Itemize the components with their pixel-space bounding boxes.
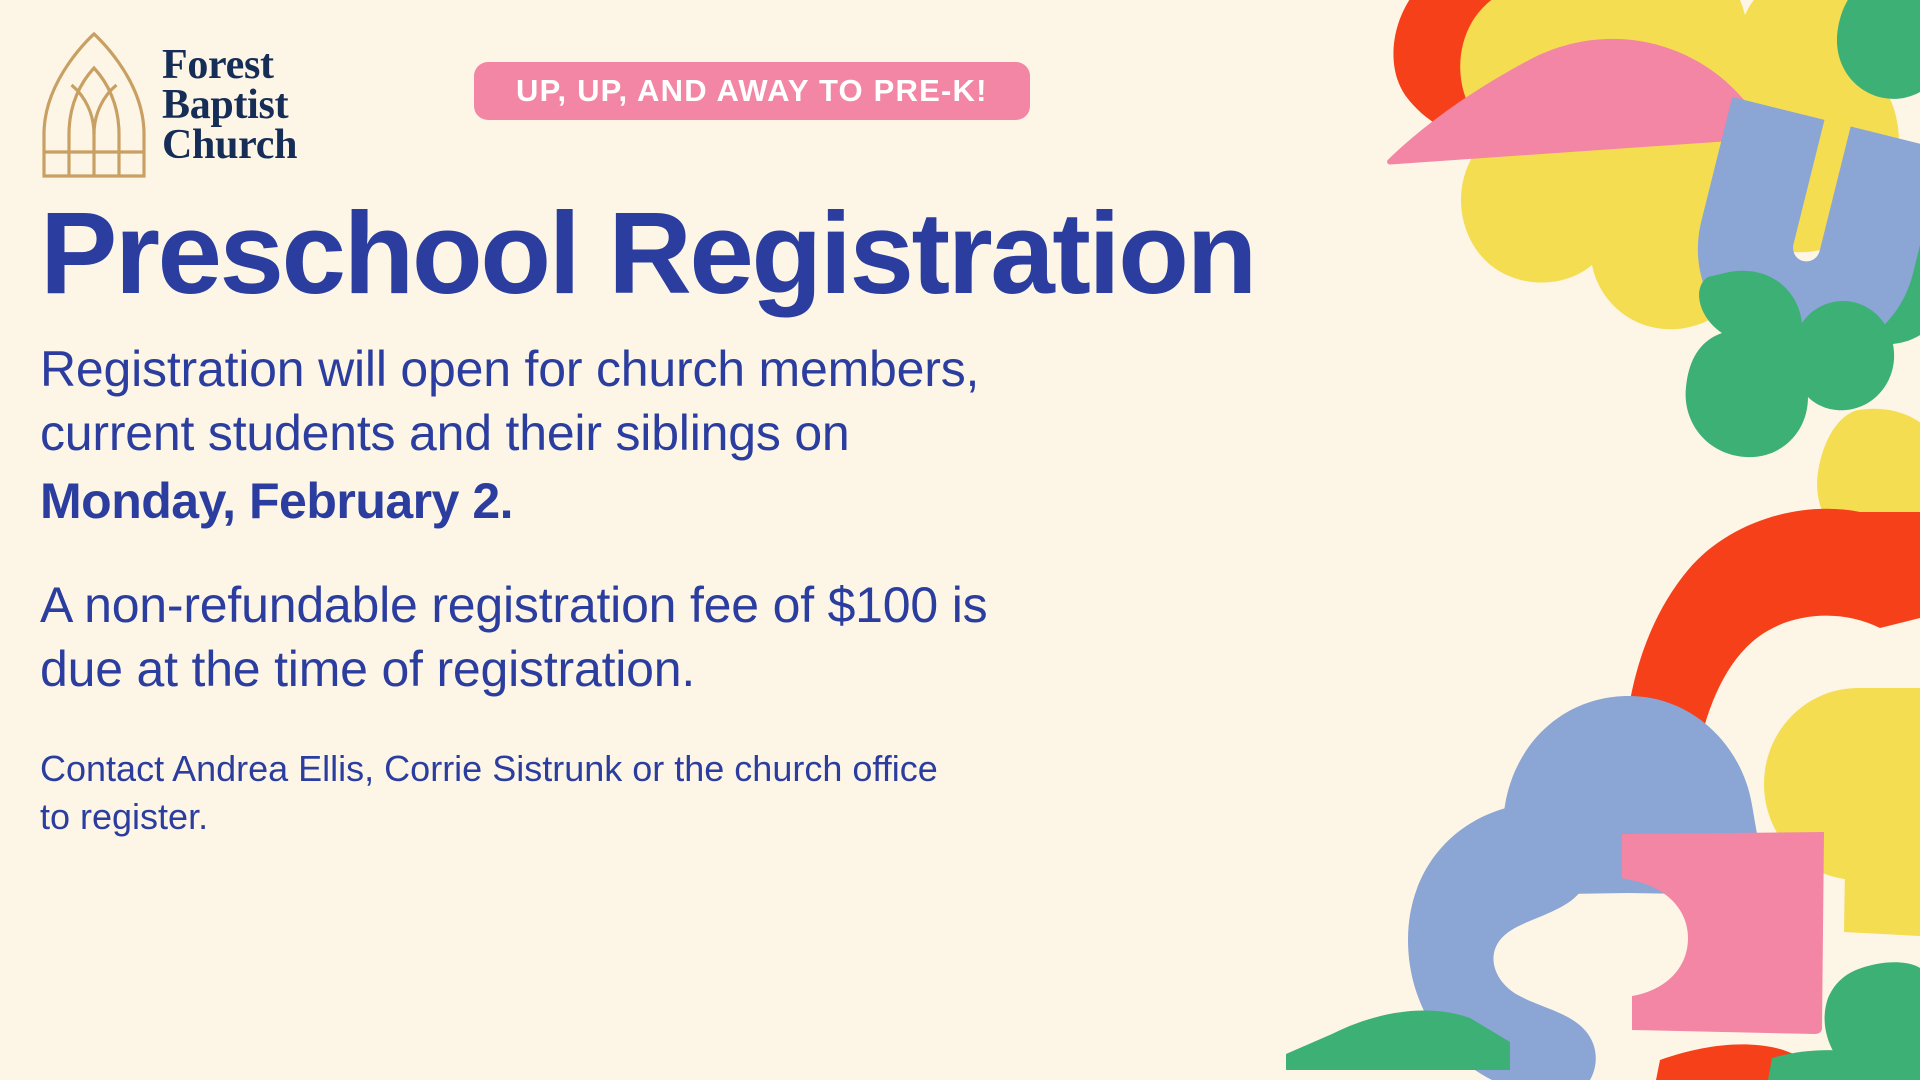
tagline-badge: UP, UP, AND AWAY TO PRE-K! bbox=[474, 62, 1030, 120]
yellow-small-blob-shape bbox=[1817, 409, 1920, 551]
pink-block-shape bbox=[1622, 832, 1824, 1034]
contact-line-2: to register. bbox=[40, 793, 1220, 841]
registration-paragraph: Registration will open for church member… bbox=[40, 337, 1220, 533]
brand-name-line-2: Baptist bbox=[162, 85, 297, 125]
gothic-arch-window-icon bbox=[40, 30, 148, 180]
fee-paragraph: A non-refundable registration fee of $10… bbox=[40, 573, 1220, 701]
brand-name-line-1: Forest bbox=[162, 45, 297, 85]
registration-date: Monday, February 2. bbox=[40, 469, 1220, 533]
green-clover-shape bbox=[1686, 271, 1895, 457]
poster-content: Preschool Registration Registration will… bbox=[40, 195, 1220, 840]
blue-wave-shape bbox=[1408, 804, 1596, 1080]
registration-line-1: Registration will open for church member… bbox=[40, 341, 979, 397]
page-title: Preschool Registration bbox=[40, 195, 1220, 311]
red-arch-shape bbox=[1622, 509, 1920, 791]
brand-name-line-3: Church bbox=[162, 125, 297, 165]
registration-line-2: current students and their siblings on bbox=[40, 405, 850, 461]
green-blob-right-shape bbox=[1819, 211, 1920, 344]
brand-name: Forest Baptist Church bbox=[162, 45, 297, 166]
red-bottom-shape bbox=[1656, 1044, 1816, 1080]
yellow-half-circle-shape bbox=[1764, 688, 1920, 880]
contact-paragraph: Contact Andrea Ellis, Corrie Sistrunk or… bbox=[40, 745, 1220, 840]
fee-line-2: due at the time of registration. bbox=[40, 641, 695, 697]
contact-line-1: Contact Andrea Ellis, Corrie Sistrunk or… bbox=[40, 745, 1220, 793]
yellow-rectangle-shape bbox=[1844, 800, 1920, 936]
green-bottom-sliver-shape bbox=[1768, 1050, 1920, 1080]
green-bottom-center-shape bbox=[1286, 1011, 1510, 1070]
preschool-registration-poster: Forest Baptist Church UP, UP, AND AWAY T… bbox=[0, 0, 1920, 1080]
fee-line-1: A non-refundable registration fee of $10… bbox=[40, 577, 987, 633]
blue-dome-shape bbox=[1491, 696, 1766, 895]
green-bottom-right-shape bbox=[1825, 962, 1920, 1080]
brand-logo: Forest Baptist Church bbox=[40, 30, 297, 180]
